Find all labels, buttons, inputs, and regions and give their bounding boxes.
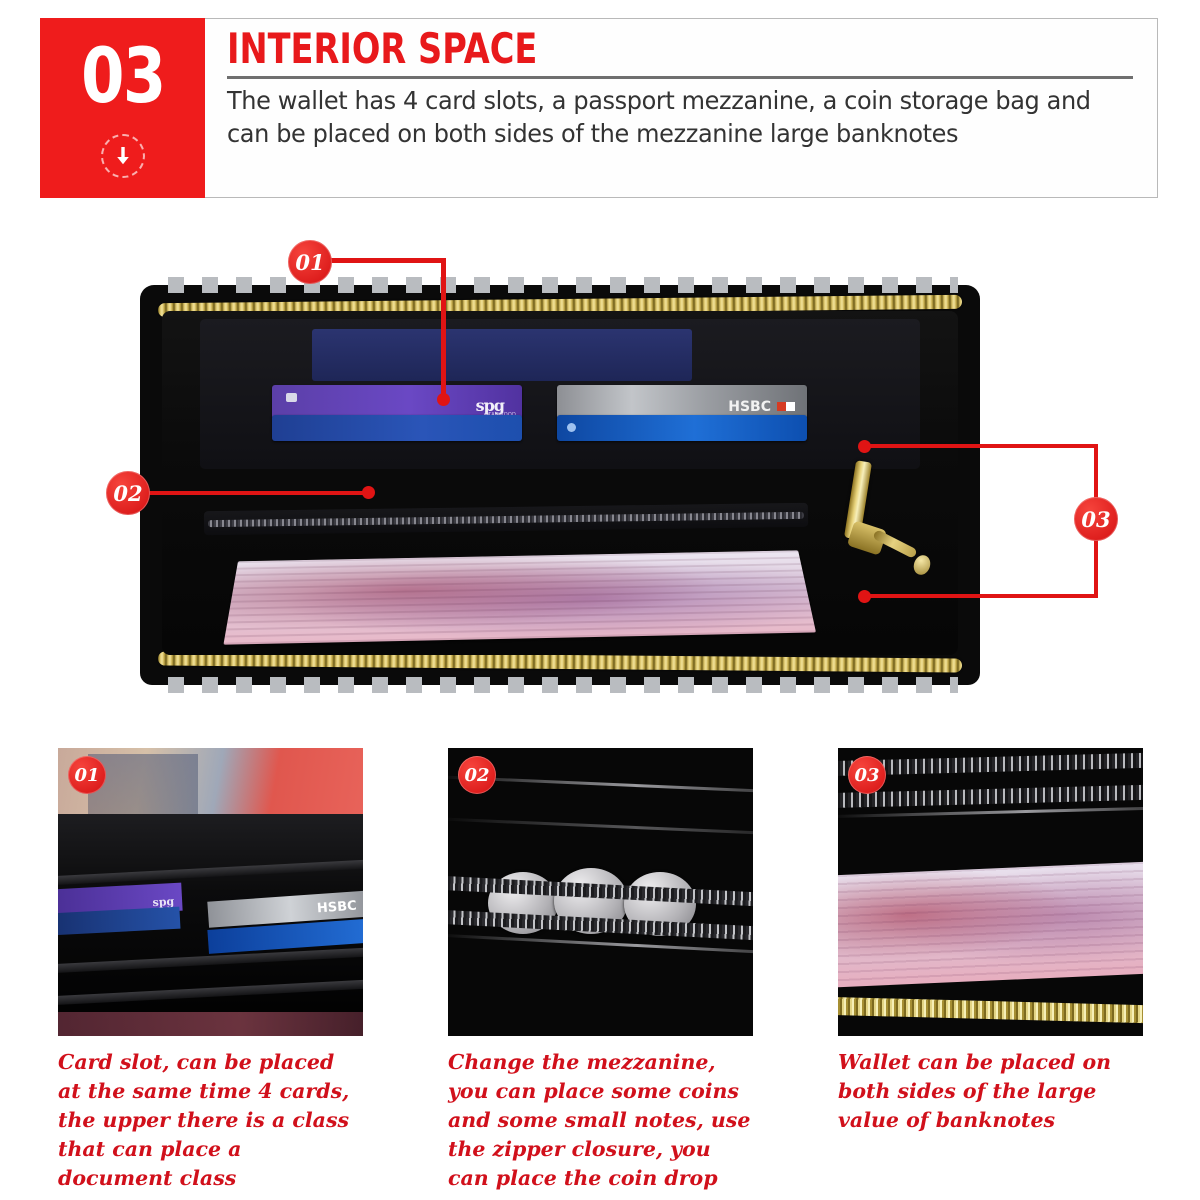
thumbnail-image-02: 02 [448, 748, 753, 1036]
step-number-block: 03 [40, 18, 205, 198]
card-chip-icon [286, 393, 297, 402]
zipper-pull-knob [911, 553, 933, 577]
section-header: 03 INTERIOR SPACE The wallet has 4 card … [40, 18, 1158, 198]
callout-03-leader-lower [864, 594, 1098, 598]
card-slot-blue-card-right [557, 415, 807, 441]
hsbc-logo-icon [777, 402, 795, 411]
wallet-illustration: spg STARWOOD HSBC [140, 285, 980, 685]
zippered-coin-mezzanine [204, 503, 808, 535]
step-number: 03 [81, 38, 164, 114]
thumb1-hsbc-label: HSBC [317, 899, 358, 917]
header-text-panel: INTERIOR SPACE The wallet has 4 card slo… [205, 18, 1158, 198]
banknote-stack [223, 550, 816, 644]
thumbnail-item-03: 03 Wallet can be placed on both sides of… [838, 748, 1143, 1135]
callout-03-label: 03 [1081, 507, 1110, 532]
callout-01-leader-horizontal [330, 258, 446, 263]
passport-mezzanine [312, 329, 692, 381]
wallet-interior: spg STARWOOD HSBC [162, 311, 958, 655]
down-arrow-icon [101, 134, 145, 178]
thumbnail-badge-02: 02 [458, 756, 496, 794]
thumbnail-image-01: spg HSBC 01 [58, 748, 363, 1036]
callout-01-label: 01 [295, 250, 324, 275]
thumb1-banknote-edge [58, 1012, 363, 1036]
thumbnail-badge-03-label: 03 [854, 765, 879, 786]
thumb3-banknotes [838, 861, 1143, 988]
page-title: INTERIOR SPACE [227, 27, 958, 71]
zipper-teeth-bottom [168, 677, 958, 693]
thumbnail-caption-01: Card slot, can be placed at the same tim… [58, 1048, 363, 1194]
card-slot-blue-card-left [272, 415, 522, 441]
thumbnail-item-02: 02 Change the mezzanine, you can place s… [448, 748, 753, 1194]
thumbnail-caption-02: Change the mezzanine, you can place some… [448, 1048, 753, 1194]
main-product-photo: spg STARWOOD HSBC 01 02 [140, 285, 980, 685]
callout-01-badge: 01 [288, 240, 332, 284]
card-hologram-icon [567, 423, 576, 432]
thumbnail-badge-01: 01 [68, 756, 106, 794]
thumbnail-caption-03: Wallet can be placed on both sides of th… [838, 1048, 1143, 1135]
thumbnail-badge-01-label: 01 [74, 765, 99, 786]
thumbnail-badge-03: 03 [848, 756, 886, 794]
thumbnail-item-01: spg HSBC 01 Card slot, can be placed at … [58, 748, 363, 1194]
zipper-teeth-top [168, 277, 958, 293]
callout-03-badge: 03 [1074, 497, 1118, 541]
callout-02-leader [148, 491, 370, 495]
card-slot-hsbc-card: HSBC [557, 385, 807, 419]
callout-01-point [437, 393, 450, 406]
callout-02-point [362, 486, 375, 499]
thumbnail-image-03: 03 [838, 748, 1143, 1036]
callout-01-leader-vertical [441, 258, 446, 400]
callout-02-badge: 02 [106, 471, 150, 515]
hsbc-card-label: HSBC [728, 399, 771, 415]
callout-02-label: 02 [113, 481, 142, 506]
title-divider [227, 76, 1133, 79]
header-description: The wallet has 4 card slots, a passport … [227, 85, 1104, 150]
thumbnail-badge-02-label: 02 [464, 765, 489, 786]
card-slot-spg-card: spg STARWOOD [272, 385, 522, 419]
callout-03-leader-upper [864, 444, 1098, 448]
